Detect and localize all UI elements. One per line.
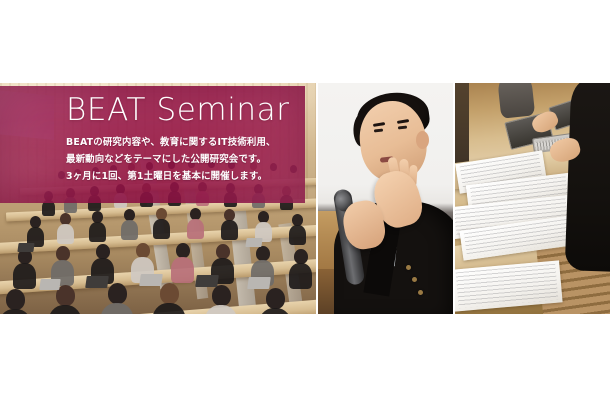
audience-head — [216, 244, 230, 259]
audience-head — [108, 283, 127, 304]
photo-lecture-hall: BEAT Seminar BEATの研究内容や、教育に関するIT技術利用、 最新… — [0, 83, 318, 314]
photo-speaker-with-microphone — [318, 83, 455, 314]
photo-divider — [316, 83, 318, 314]
audience-torso — [121, 220, 138, 240]
description-line-3: 3ヶ月に1回、第1土曜日を基本に開催します。 — [66, 168, 305, 185]
audience-laptop — [245, 238, 262, 247]
magenta-overlay-card: BEAT Seminar BEATの研究内容や、教育に関するIT技術利用、 最新… — [0, 86, 305, 203]
beat-seminar-banner: BEAT Seminar BEATの研究内容や、教育に関するIT技術利用、 最新… — [0, 83, 610, 314]
audience-torso — [100, 303, 134, 314]
page-title: BEAT Seminar — [66, 94, 305, 127]
description-block: BEATの研究内容や、教育に関するIT技術利用、 最新動向などをテーマにした公開… — [66, 134, 305, 185]
audience-torso — [187, 219, 204, 239]
audience-torso — [171, 257, 194, 283]
photo-desk-with-documents — [455, 83, 610, 314]
description-line-2: 最新動向などをテーマにした公開研究会です。 — [66, 151, 305, 168]
audience-head — [160, 283, 179, 304]
audience-laptop — [17, 243, 34, 252]
photo-divider — [453, 83, 455, 314]
audience-torso — [57, 224, 74, 244]
audience-torso — [0, 309, 32, 314]
audience-head — [266, 288, 285, 309]
audience-head — [96, 244, 110, 259]
audience-torso — [221, 220, 238, 240]
audience-torso — [289, 263, 312, 289]
speaker-suit-buttons — [404, 263, 426, 309]
audience-laptop — [195, 275, 219, 287]
desk-participant-far — [497, 83, 535, 119]
audience-head — [136, 243, 150, 258]
description-line-1: BEATの研究内容や、教育に関するIT技術利用、 — [66, 134, 305, 151]
audience-torso — [153, 219, 170, 239]
desk-participant-near — [565, 83, 610, 272]
overlay-content: BEAT Seminar BEATの研究内容や、教育に関するIT技術利用、 最新… — [0, 86, 305, 185]
audience-head — [6, 289, 25, 310]
audience-torso — [13, 263, 36, 289]
audience-head — [56, 246, 70, 261]
speaker-ear — [416, 131, 429, 149]
audience-laptop — [85, 276, 109, 288]
desk-shadow-left — [455, 83, 469, 173]
audience-torso — [89, 222, 106, 242]
audience-head — [176, 243, 190, 258]
audience-head — [294, 249, 308, 264]
audience-head — [212, 285, 231, 306]
audience-torso — [289, 225, 306, 245]
audience-laptop — [247, 277, 271, 289]
audience-head — [256, 246, 270, 261]
audience-laptop — [39, 279, 61, 290]
audience-torso — [152, 303, 186, 314]
audience-laptop — [139, 274, 163, 286]
audience-torso — [48, 305, 82, 314]
